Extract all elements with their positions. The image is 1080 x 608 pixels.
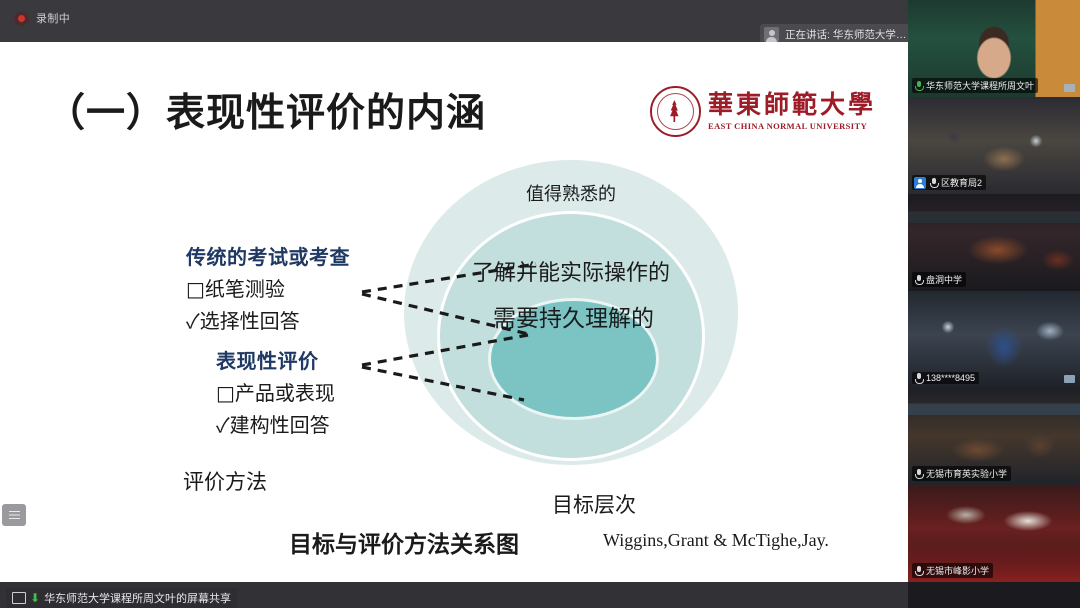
microphone-icon — [914, 373, 923, 383]
participant-name-badge: 区教育局2 — [912, 175, 986, 190]
participant-name-badge: 无锡市育英实验小学 — [912, 466, 1011, 481]
block-heading: 表现性评价 — [216, 345, 335, 374]
concentric-circles-diagram: 值得熟悉的 了解并能实际操作的 需要持久理解的 — [404, 160, 738, 465]
block-item: □纸笔测验 — [186, 273, 350, 302]
participant-name-badge: 无锡市峰影小学 — [912, 563, 993, 578]
active-speaker-label: 正在讲话: 华东师范大学课程所... — [785, 27, 914, 42]
panel-toggle-button[interactable] — [2, 504, 26, 526]
university-logo: 華東師範大學 EAST CHINA NORMAL UNIVERSITY — [650, 86, 876, 137]
university-seal-icon — [650, 86, 701, 137]
microphone-icon — [914, 81, 923, 91]
participant-name: 华东师范大学课程所周文叶 — [926, 79, 1034, 92]
participant-name: 无锡市育英实验小学 — [926, 467, 1007, 480]
outer-ring-label: 值得熟悉的 — [404, 184, 738, 207]
avatar-icon — [914, 177, 926, 189]
participant-name: 区教育局2 — [941, 176, 982, 189]
speaker-avatar-icon — [764, 27, 779, 42]
presentation-slide: （一）表现性评价的内涵 華東師範大學 EAST CHINA NORMAL UNI… — [0, 42, 908, 582]
participant-name-badge: 138****8495 — [912, 372, 979, 384]
participant-name-badge: 华东师范大学课程所周文叶 — [912, 78, 1038, 93]
zoom-meeting-window: 录制中 正在讲话: 华东师范大学课程所... （一）表现性评价的内涵 華東師範大… — [0, 0, 1080, 608]
microphone-icon — [929, 178, 938, 188]
recording-indicator: 录制中 — [14, 10, 70, 26]
participant-name-badge: 盘洞中学 — [912, 272, 966, 287]
microphone-icon — [914, 275, 923, 285]
caption-figure-title: 目标与评价方法关系图 — [289, 525, 519, 559]
logo-english-name: EAST CHINA NORMAL UNIVERSITY — [708, 121, 876, 131]
caption-goal-level: 目标层次 — [552, 489, 636, 519]
text-block-performance: 表现性评价 □产品或表现 ✓建构性回答 — [216, 345, 335, 438]
block-item: ✓选择性回答 — [186, 305, 350, 334]
screen-share-label: 华东师范大学课程所周文叶的屏幕共享 — [44, 590, 231, 606]
recording-label: 录制中 — [36, 10, 70, 26]
block-item: □产品或表现 — [216, 377, 335, 406]
participant-tile[interactable]: 无锡市峰影小学 — [908, 485, 1080, 582]
camera-icon — [1064, 375, 1075, 383]
participant-video-strip[interactable]: 华东师范大学课程所周文叶 区教育局2 盘洞中学 — [908, 0, 1080, 608]
participant-tile[interactable]: 无锡市育英实验小学 — [908, 388, 1080, 485]
participant-tile[interactable]: 华东师范大学课程所周文叶 — [908, 0, 1080, 97]
block-item: ✓建构性回答 — [216, 409, 335, 438]
slide-title: （一）表现性评价的内涵 — [46, 82, 486, 138]
logo-chinese-name: 華東師範大學 — [708, 92, 876, 118]
caption-assessment-method: 评价方法 — [183, 466, 267, 496]
screen-share-area: 录制中 正在讲话: 华东师范大学课程所... （一）表现性评价的内涵 華東師範大… — [0, 0, 908, 608]
meeting-top-bar: 录制中 正在讲话: 华东师范大学课程所... — [0, 0, 908, 42]
participant-tile[interactable]: 138****8495 — [908, 291, 1080, 388]
inner-ring-label: 需要持久理解的 — [488, 305, 659, 334]
block-heading: 传统的考试或考查 — [186, 241, 350, 270]
caption-reference: Wiggins,Grant & McTighe,Jay. — [603, 530, 829, 551]
participant-name: 盘洞中学 — [926, 273, 962, 286]
participant-tile[interactable]: 盘洞中学 — [908, 194, 1080, 291]
record-dot-icon — [14, 11, 29, 26]
camera-icon — [1064, 84, 1075, 92]
participant-name: 138****8495 — [926, 373, 975, 383]
text-block-traditional: 传统的考试或考查 □纸笔测验 ✓选择性回答 — [186, 241, 350, 334]
participant-name: 无锡市峰影小学 — [926, 564, 989, 577]
microphone-icon — [914, 469, 923, 479]
microphone-icon — [914, 566, 923, 576]
download-arrow-icon: ⬇ — [30, 592, 40, 604]
monitor-icon — [12, 592, 26, 604]
menu-lines-icon — [9, 511, 20, 520]
screen-share-status: ⬇ 华东师范大学课程所周文叶的屏幕共享 — [6, 588, 237, 608]
participant-tile[interactable]: 区教育局2 — [908, 97, 1080, 194]
middle-ring-label: 了解并能实际操作的 — [461, 260, 681, 288]
